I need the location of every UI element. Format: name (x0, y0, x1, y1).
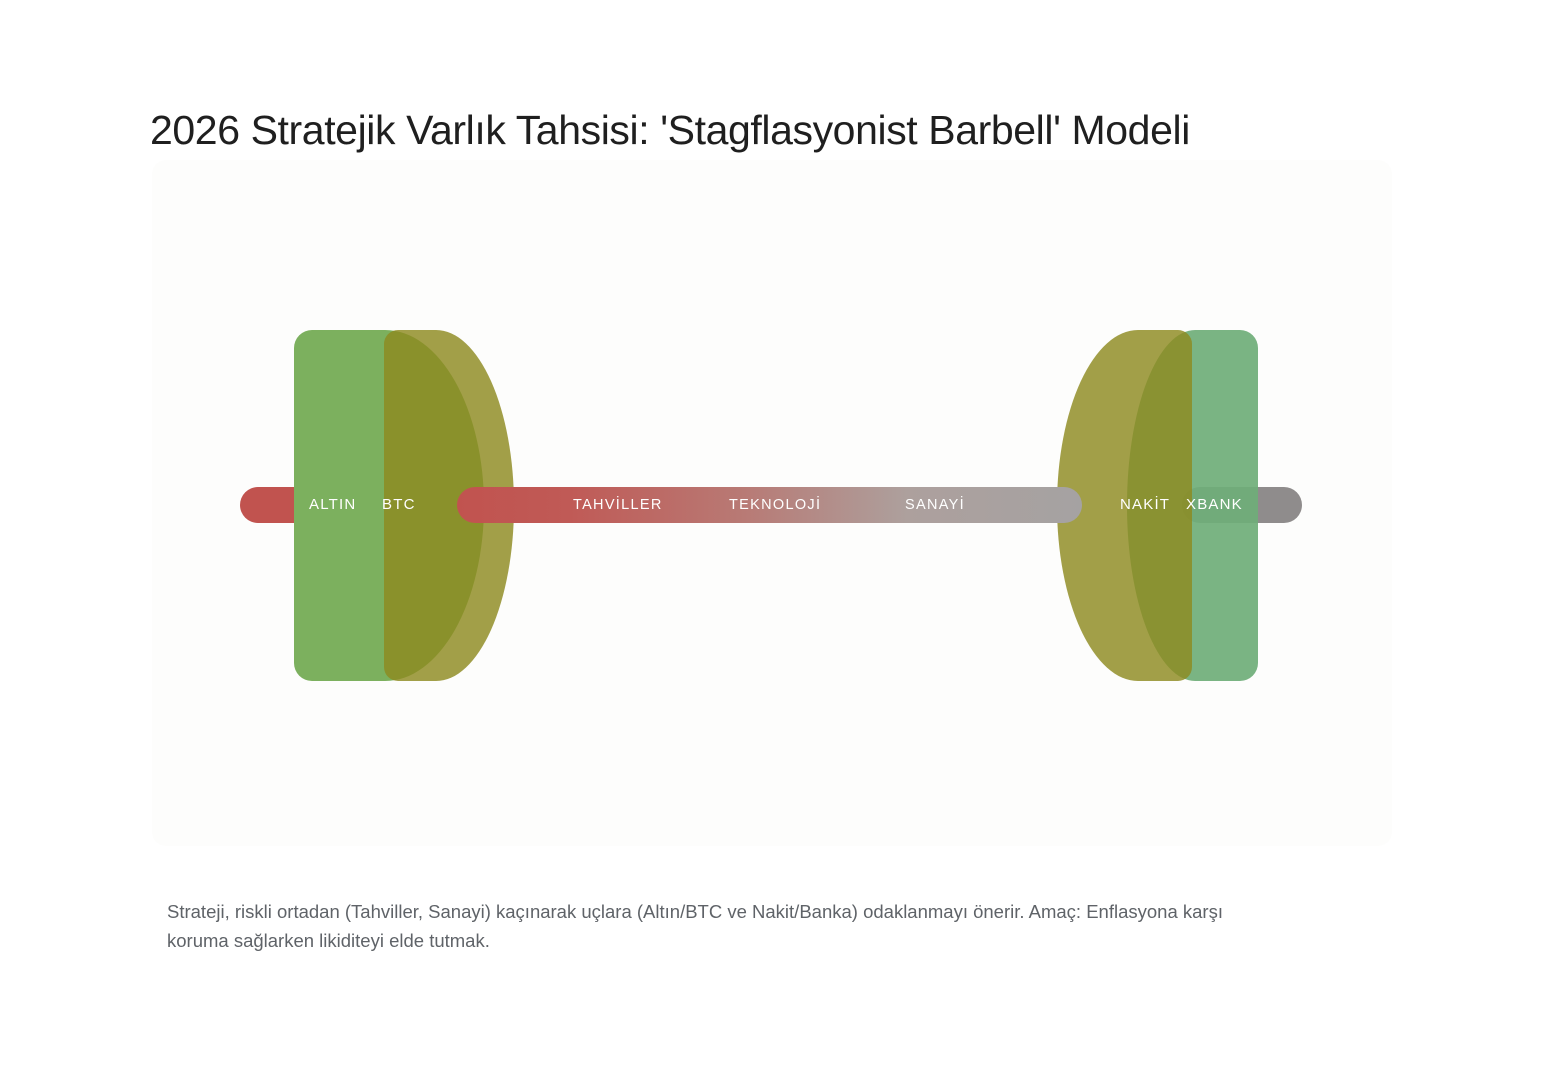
page-title: 2026 Stratejik Varlık Tahsisi: 'Stagflas… (150, 105, 1400, 155)
page-root: 2026 Stratejik Varlık Tahsisi: 'Stagflas… (0, 0, 1562, 1084)
chart-card: TAHVİLLER TEKNOLOJİ SANAYİ ALTIN BTC NAK… (152, 160, 1392, 846)
chart-caption: Strateji, riskli ortadan (Tahviller, San… (167, 897, 1282, 957)
barbell-diagram: TAHVİLLER TEKNOLOJİ SANAYİ ALTIN BTC NAK… (152, 160, 1392, 846)
barbell-center-bar (457, 487, 1082, 523)
